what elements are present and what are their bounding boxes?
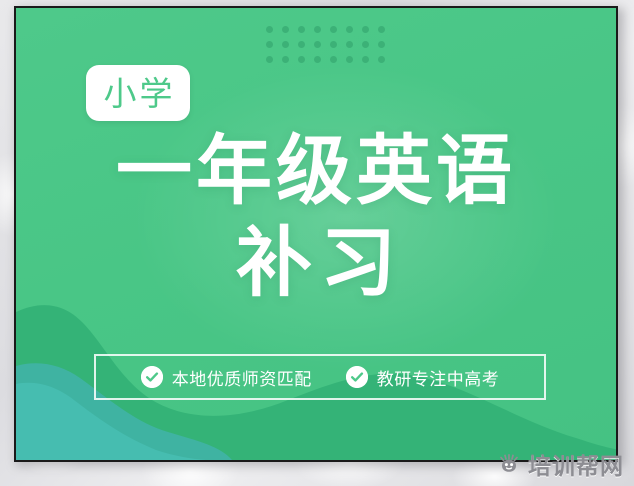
headline-line-1: 一年级英语 (16, 134, 616, 210)
grid-dot (378, 56, 385, 63)
grid-dot (298, 41, 305, 48)
dot-grid-decoration (266, 26, 394, 71)
feature-item-exam-focus: 教研专注中高考 (346, 365, 500, 390)
grid-dot (330, 56, 337, 63)
sun-face-logo-icon (497, 452, 521, 481)
grade-level-badge-label: 小学 (101, 77, 176, 110)
grid-dot (314, 41, 321, 48)
grid-dot (378, 26, 385, 33)
grid-dot (298, 26, 305, 33)
course-poster-card: 小学 一年级英语 补习 本地优质师资匹配 教研专注中高考 (14, 6, 618, 462)
grid-dot (282, 41, 289, 48)
grid-dot (330, 26, 337, 33)
feature-label: 本地优质师资匹配 (172, 365, 312, 390)
site-watermark-label: 培训帮网 (528, 455, 624, 478)
grid-dot (314, 56, 321, 63)
check-circle-icon (346, 366, 368, 388)
feature-label: 教研专注中高考 (377, 365, 500, 390)
feature-item-teacher-matching: 本地优质师资匹配 (141, 365, 312, 390)
grid-dot (362, 56, 369, 63)
grid-dot (330, 41, 337, 48)
grid-dot (346, 56, 353, 63)
site-watermark: 培训帮网 (491, 449, 630, 484)
grid-dot (362, 41, 369, 48)
poster-headline: 一年级英语 补习 (16, 134, 616, 302)
grid-dot (314, 26, 321, 33)
grid-dot (298, 56, 305, 63)
grid-dot (378, 41, 385, 48)
headline-line-2: 补习 (16, 226, 616, 302)
feature-banner: 本地优质师资匹配 教研专注中高考 (94, 354, 546, 400)
grid-dot (282, 56, 289, 63)
grid-dot (346, 26, 353, 33)
grid-dot (266, 56, 273, 63)
grid-dot (266, 26, 273, 33)
check-circle-icon (141, 366, 163, 388)
grid-dot (362, 26, 369, 33)
grid-dot (282, 26, 289, 33)
grade-level-badge: 小学 (86, 65, 190, 121)
grid-dot (266, 41, 273, 48)
grid-dot (346, 41, 353, 48)
